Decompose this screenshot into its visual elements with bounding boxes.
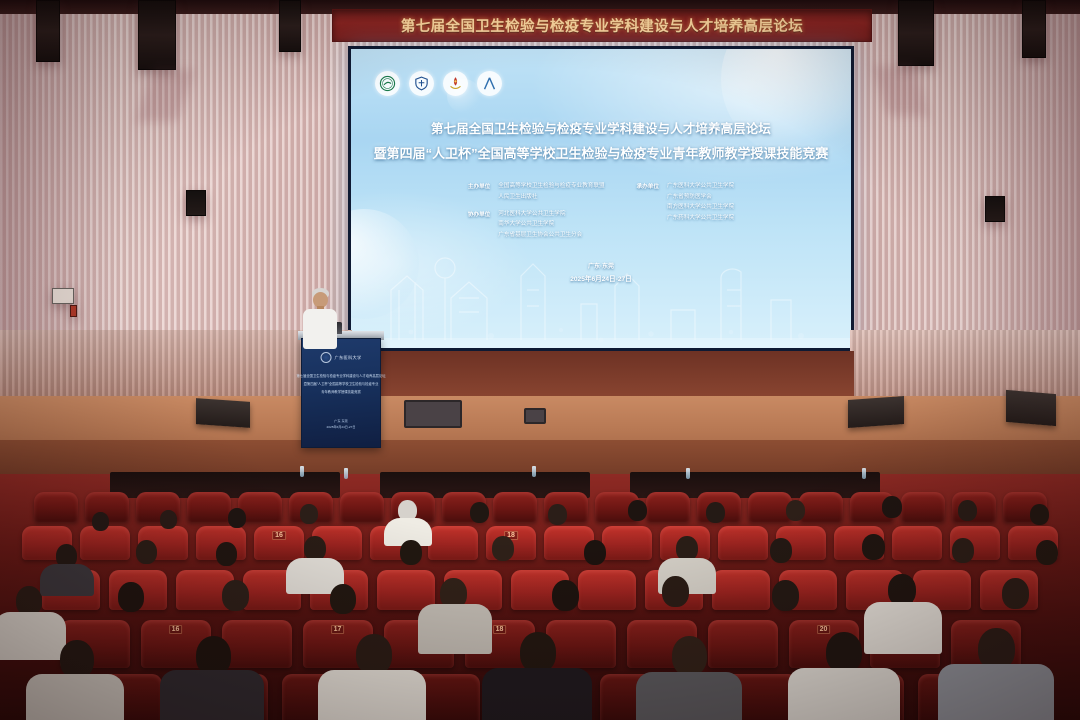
water-bottle-1: [300, 466, 304, 477]
audience-member: [118, 582, 144, 612]
organizer-coorg-line-2: 南华大学公共卫生学院: [498, 219, 582, 227]
seat[interactable]: [712, 570, 770, 610]
seat-number: 18: [493, 625, 507, 634]
presenter-torso: [303, 309, 337, 349]
audience-member: [1036, 540, 1058, 565]
logo-people-medical-glyph: [481, 75, 498, 92]
organizer-block-undertaker: 承办单位 广东医科大学公共卫生学院 广东省预防医学会 南方医科大学公共卫生学院 …: [637, 181, 735, 221]
audience-member-body: [938, 664, 1054, 720]
seat[interactable]: [892, 526, 942, 560]
audience-member-body: [864, 602, 942, 654]
stage-confidence-monitor: [404, 400, 462, 428]
auditorium-seating: 16 17 18: [0, 474, 1080, 720]
audience-member: [492, 536, 514, 561]
audience-member: [706, 502, 725, 523]
audience-member: [958, 500, 977, 521]
seat[interactable]: [428, 526, 478, 560]
organizer-lines-undertaker: 广东医科大学公共卫生学院 广东省预防医学会 南方医科大学公共卫生学院 广东药科大…: [667, 181, 734, 221]
podium-footer-date: 2025年6月24日-27日: [302, 424, 380, 429]
logo-crest-icon: [443, 71, 468, 96]
audience-member: [862, 534, 885, 560]
podium-line-3: 青年教师教学授课技能竞赛: [321, 389, 361, 394]
audience-member: [136, 540, 157, 564]
seat[interactable]: [602, 526, 652, 560]
seat[interactable]: [377, 570, 435, 610]
wall-speaker-right-lower: [985, 196, 1005, 222]
wall-panel-left: [52, 288, 74, 304]
wall-speaker-left-lower: [186, 190, 206, 216]
audience-member: [330, 584, 356, 614]
seat[interactable]: [80, 526, 130, 560]
screen-title-line1: 第七届全国卫生检验与检疫专业学科建设与人才培养高层论坛: [351, 119, 851, 137]
seat[interactable]: [546, 620, 616, 668]
water-bottle-4: [686, 468, 690, 479]
audience-member: [1030, 504, 1049, 525]
logo-alliance-icon: [375, 71, 400, 96]
speaker-array-center-left: [279, 0, 301, 52]
stage-backdrop-lower: [348, 351, 854, 399]
speaker-array-right-outer: [1022, 0, 1046, 58]
stage-monitor-far-left: [196, 398, 250, 428]
seat[interactable]: [646, 492, 690, 522]
speaker-presenter: [300, 288, 340, 348]
speaker-array-left-mid: [138, 0, 176, 70]
audience-member-body: [160, 670, 264, 720]
podium-seal-text: 广东医科大学: [335, 355, 362, 361]
audience-member-body: [318, 670, 426, 720]
audience-member-body: [482, 668, 592, 720]
audience-member: [222, 580, 249, 611]
audience-member: [552, 580, 579, 611]
screen-footer-block: 广东·东莞 2025年6月24日-27日: [351, 261, 851, 283]
audience-member: [470, 502, 489, 523]
audience-member: [228, 508, 246, 528]
organizer-column-right: 承办单位 广东医科大学公共卫生学院 广东省预防医学会 南方医科大学公共卫生学院 …: [637, 181, 735, 238]
city-skyline-graphic: [351, 220, 851, 348]
seat-number: 17: [331, 625, 345, 634]
water-bottle-3: [532, 466, 536, 477]
seat-number: 16: [272, 531, 286, 540]
seat[interactable]: [340, 492, 384, 522]
podium-line-1: 第七届全国卫生检验与检疫专业学科建设与人才培养高层论坛: [297, 373, 386, 378]
audience-member: [1002, 578, 1029, 609]
stage-monitor-right: [1006, 390, 1056, 426]
seat[interactable]: [718, 526, 768, 560]
organizer-column-left: 主办单位 全国高等学校卫生检验与检疫专业教育联盟 人民卫生出版社 协办单位 河北…: [468, 181, 605, 238]
screen-organizer-area: 主办单位 全国高等学校卫生检验与检疫专业教育联盟 人民卫生出版社 协办单位 河北…: [351, 181, 851, 238]
logo-alliance-glyph: [379, 75, 396, 92]
screen-location: 广东·东莞: [351, 261, 851, 270]
logo-people-medical-icon: [477, 71, 502, 96]
organizer-block-coorg: 协办单位 河北医科大学公共卫生学院 南华大学公共卫生学院 广东省基层卫生协会公共…: [468, 209, 605, 238]
audience-member-body: [0, 612, 66, 660]
organizer-label-host: 主办单位: [468, 181, 490, 190]
organizer-lines-host: 全国高等学校卫生检验与检疫专业教育联盟 人民卫生出版社: [498, 181, 604, 200]
audience-member: [952, 538, 974, 563]
seat-row-4: 16 17 18: [0, 526, 1080, 560]
screen-logo-row: [375, 71, 502, 96]
organizer-undertaker-line-1: 广东医科大学公共卫生学院: [667, 181, 734, 189]
speaker-array-right-mid: [898, 0, 934, 66]
organizer-label-coorg: 协办单位: [468, 209, 490, 218]
seat-number: 20: [817, 625, 831, 634]
seat[interactable]: [578, 570, 636, 610]
audience-member: [584, 540, 606, 565]
audience-member: [92, 512, 109, 531]
audience-member: [520, 632, 556, 673]
audience-member: [216, 542, 237, 566]
conference-banner: 第七届全国卫生检验与检疫专业学科建设与人才培养高层论坛: [332, 9, 872, 42]
organizer-undertaker-line-4: 广东药科大学公共卫生学院: [667, 213, 734, 221]
led-screen-frame: 第七届全国卫生检验与检疫专业学科建设与人才培养高层论坛 暨第四届“人卫杯”全国高…: [348, 46, 854, 351]
seat[interactable]: [708, 620, 778, 668]
organizer-lines-coorg: 河北医科大学公共卫生学院 南华大学公共卫生学院 广东省基层卫生协会公共卫生分会: [498, 209, 582, 238]
logo-shield-icon: [409, 71, 434, 96]
auditorium-scene: 第七届全国卫生检验与检疫专业学科建设与人才培养高层论坛: [0, 0, 1080, 720]
podium: 广东医科大学 第七届全国卫生检验与检疫专业学科建设与人才培养高层论坛 暨第四届“…: [301, 338, 381, 448]
university-seal-icon: [321, 352, 332, 363]
audience-member: [672, 636, 707, 676]
organizer-coorg-line-1: 河北医科大学公共卫生学院: [498, 209, 582, 217]
audience-member-body: [636, 672, 742, 720]
screen-title-block: 第七届全国卫生检验与检疫专业学科建设与人才培养高层论坛 暨第四届“人卫杯”全国高…: [351, 119, 851, 162]
audience-member: [770, 538, 792, 563]
audience-member: [628, 500, 647, 521]
seat[interactable]: [187, 492, 231, 522]
stage-monitor-left: [848, 396, 904, 428]
podium-text-block: 第七届全国卫生检验与检疫专业学科建设与人才培养高层论坛 暨第四届“人卫杯”全国高…: [307, 373, 375, 394]
water-bottle-5: [862, 468, 866, 479]
seat[interactable]: [799, 492, 843, 522]
audience-member: [786, 500, 805, 521]
stage-side-monitor: [524, 408, 546, 424]
seat[interactable]: [748, 492, 792, 522]
screen-title-line2: 暨第四届“人卫杯”全国高等学校卫生检验与检疫专业青年教师教学授课技能竞赛: [351, 143, 851, 162]
organizer-coorg-line-3: 广东省基层卫生协会公共卫生分会: [498, 230, 582, 238]
audience-member: [160, 510, 177, 529]
led-screen: 第七届全国卫生检验与检疫专业学科建设与人才培养高层论坛 暨第四届“人卫杯”全国高…: [351, 49, 851, 348]
organizer-host-line-1: 全国高等学校卫生检验与检疫专业教育联盟: [498, 181, 604, 189]
audience-member: [662, 576, 689, 607]
seat-number: 16: [169, 625, 183, 634]
audience-member: [300, 504, 318, 524]
organizer-undertaker-line-3: 南方医科大学公共卫生学院: [667, 202, 734, 210]
logo-shield-glyph: [413, 75, 430, 92]
water-bottle-2: [344, 468, 348, 479]
audience-member-body: [40, 564, 94, 596]
podium-logo: 广东医科大学: [321, 352, 362, 363]
audience-member: [772, 580, 799, 611]
conference-banner-text: 第七届全国卫生检验与检疫专业学科建设与人才培养高层论坛: [401, 15, 803, 36]
wall-outlet-left: [70, 305, 77, 317]
seat[interactable]: [901, 492, 945, 522]
podium-footer: 广东·东莞 2025年6月24日-27日: [302, 416, 380, 429]
organizer-label-undertaker: 承办单位: [637, 181, 659, 190]
audience-member-body: [418, 604, 492, 654]
organizer-block-host: 主办单位 全国高等学校卫生检验与检疫专业教育联盟 人民卫生出版社: [468, 181, 605, 200]
audience-member-body: [788, 668, 900, 720]
seat[interactable]: [222, 620, 292, 668]
logo-crest-glyph: [447, 75, 464, 92]
seat[interactable]: [34, 492, 78, 522]
audience-member: [356, 634, 392, 675]
speaker-array-left-outer: [36, 0, 60, 62]
audience-member: [882, 496, 902, 518]
organizer-host-line-2: 人民卫生出版社: [498, 192, 604, 200]
podium-line-2: 暨第四届“人卫杯”全国高等学校卫生检验与检疫专业: [304, 381, 379, 386]
audience-member: [826, 632, 862, 673]
stage-right-surround: [850, 330, 1080, 400]
seat[interactable]: 16: [254, 526, 304, 560]
audience-member-body: [26, 674, 124, 720]
screen-date: 2025年6月24日-27日: [351, 273, 851, 283]
audience-member: [400, 540, 422, 565]
organizer-undertaker-line-2: 广东省预防医学会: [667, 192, 734, 200]
podium-footer-location: 广东·东莞: [302, 418, 380, 423]
audience-member: [548, 504, 567, 525]
seat[interactable]: [493, 492, 537, 522]
